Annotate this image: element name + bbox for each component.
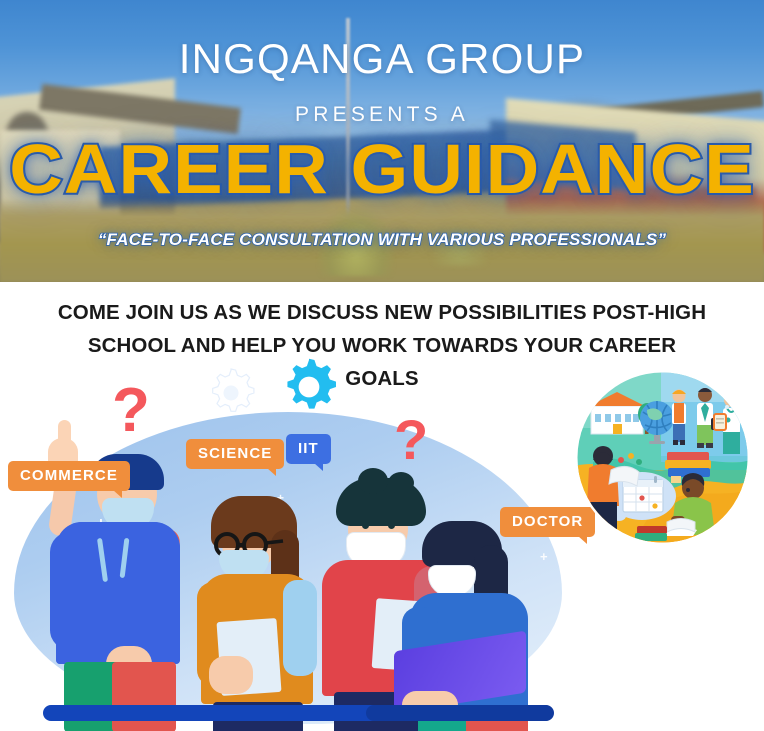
floor-bar-shadow: [366, 705, 554, 721]
hand: [209, 656, 253, 694]
badge-doctor[interactable]: DOCTOR: [500, 507, 595, 537]
question-mark-right-icon: ?: [394, 412, 428, 468]
hoodie-front: [56, 522, 180, 664]
badge-iit[interactable]: IIT: [286, 434, 331, 464]
poster-title: CAREER GUIDANCE: [0, 134, 764, 205]
student-blue-hoodie: [40, 470, 190, 720]
illustration-area: + + + + + ? ?: [0, 360, 764, 731]
gear-cyan-icon: [276, 354, 342, 420]
eye: [388, 522, 395, 529]
pointing-finger: [58, 420, 71, 450]
event-description-line-1: COME JOIN US AS WE DISCUSS NEW POSSIBILI…: [56, 296, 708, 329]
question-mark-left-icon: ?: [112, 380, 150, 442]
presents-label: PRESENTS A: [0, 104, 764, 125]
hero-text-group: INGQANGA GROUP PRESENTS A CAREER GUIDANC…: [0, 0, 764, 282]
hair-tuft: [388, 472, 414, 494]
career-collage-circle: [575, 370, 750, 545]
career-guidance-poster: INGQANGA GROUP PRESENTS A CAREER GUIDANC…: [0, 0, 764, 731]
student-laptop-girl: [408, 515, 553, 723]
engineer-figure: [672, 390, 686, 446]
backpack-strap: [283, 580, 317, 676]
badge-science[interactable]: SCIENCE: [186, 439, 284, 469]
organization-name: INGQANGA GROUP: [0, 38, 764, 80]
eye: [362, 522, 369, 529]
poster-tagline: “FACE-TO-FACE CONSULTATION WITH VARIOUS …: [0, 230, 764, 250]
career-collage-svg: [575, 370, 750, 545]
hero-banner: INGQANGA GROUP PRESENTS A CAREER GUIDANC…: [0, 0, 764, 282]
hair-tuft: [358, 468, 388, 494]
badge-commerce[interactable]: COMMERCE: [8, 461, 130, 491]
student-orange-sweater: [195, 508, 325, 723]
gear-white-icon: [203, 365, 259, 421]
